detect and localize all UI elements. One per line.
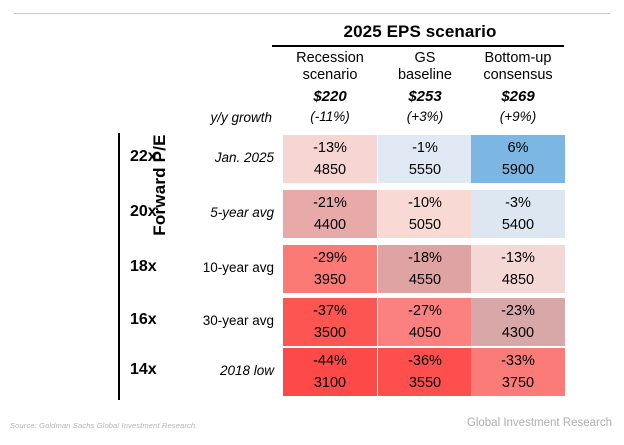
row-name-label-4: 2018 low — [176, 363, 274, 378]
cell-index-level: 3950 — [283, 269, 377, 291]
cell-growth-value: -29% — [283, 247, 377, 269]
row-pe-label-2: 18x — [130, 258, 170, 276]
column-header-line2: scenario — [303, 67, 358, 83]
heatmap-cell-r0-c1: -1%5550 — [378, 135, 472, 183]
cell-growth-value: -36% — [378, 350, 472, 372]
cell-growth-value: -3% — [471, 192, 565, 214]
cell-growth-value: -44% — [283, 350, 377, 372]
cell-growth-value: -13% — [471, 247, 565, 269]
cell-index-level: 5900 — [471, 159, 565, 181]
cell-index-level: 5550 — [378, 159, 472, 181]
row-pe-label-1: 20x — [130, 203, 170, 221]
column-growth-value: (+9%) — [471, 108, 565, 125]
column-header-2: Bottom-upconsensus$269(+9%) — [471, 50, 565, 125]
heatmap-cell-r3-c0: -37%3500 — [283, 298, 377, 346]
row-name-label-1: 5-year avg — [176, 205, 274, 220]
heatmap-cell-r0-c2: 6%5900 — [471, 135, 565, 183]
heatmap-cell-r1-c0: -21%4400 — [283, 190, 377, 238]
heatmap-cell-r1-c2: -3%5400 — [471, 190, 565, 238]
column-header-line2: baseline — [398, 67, 452, 83]
cell-index-level: 4300 — [471, 322, 565, 344]
column-header-0: Recessionscenario$220(-11%) — [283, 50, 377, 125]
cell-index-level: 5400 — [471, 214, 565, 236]
column-growth-value: (+3%) — [378, 108, 472, 125]
row-name-label-3: 30-year avg — [176, 313, 274, 328]
row-pe-label-4: 14x — [130, 361, 170, 379]
cell-index-level: 3550 — [378, 372, 472, 394]
column-header-1: GSbaseline$253(+3%) — [378, 50, 472, 125]
cell-index-level: 3100 — [283, 372, 377, 394]
forward-pe-axis-line — [118, 133, 120, 400]
cell-growth-value: -18% — [378, 247, 472, 269]
cell-growth-value: -10% — [378, 192, 472, 214]
column-header-line1: Recession — [296, 50, 364, 66]
cell-growth-value: -37% — [283, 300, 377, 322]
heatmap-cell-r4-c0: -44%3100 — [283, 348, 377, 396]
cell-index-level: 5050 — [378, 214, 472, 236]
row-pe-label-3: 16x — [130, 311, 170, 329]
heatmap-cell-r4-c1: -36%3550 — [378, 348, 472, 396]
top-divider — [14, 13, 610, 14]
heatmap-cell-r4-c2: -33%3750 — [471, 348, 565, 396]
row-pe-label-0: 22x — [130, 148, 170, 166]
cell-growth-value: -33% — [471, 350, 565, 372]
cell-growth-value: 6% — [471, 137, 565, 159]
cell-growth-value: -23% — [471, 300, 565, 322]
cell-index-level: 4850 — [471, 269, 565, 291]
row-name-label-2: 10-year avg — [176, 260, 274, 275]
cell-index-level: 4850 — [283, 159, 377, 181]
cell-index-level: 3500 — [283, 322, 377, 344]
heatmap-cell-r3-c1: -27%4050 — [378, 298, 472, 346]
footer-source: Source: Goldman Sachs Global Investment … — [10, 421, 197, 430]
column-growth-value: (-11%) — [283, 108, 377, 125]
column-header-line1: Bottom-up — [485, 50, 552, 66]
cell-index-level: 4550 — [378, 269, 472, 291]
cell-index-level: 4050 — [378, 322, 472, 344]
heatmap-cell-r1-c1: -10%5050 — [378, 190, 472, 238]
column-eps-value: $253 — [378, 88, 472, 105]
row-name-label-0: Jan. 2025 — [176, 150, 274, 165]
heatmap-cell-r2-c0: -29%3950 — [283, 245, 377, 293]
heatmap-cell-r2-c2: -13%4850 — [471, 245, 565, 293]
cell-growth-value: -1% — [378, 137, 472, 159]
eps-scenario-exhibit: 2025 EPS scenario Recessionscenario$220(… — [0, 0, 624, 445]
heatmap-cell-r0-c0: -13%4850 — [283, 135, 377, 183]
column-eps-value: $220 — [283, 88, 377, 105]
cell-index-level: 4400 — [283, 214, 377, 236]
group-title-underline — [272, 45, 564, 47]
cell-growth-value: -13% — [283, 137, 377, 159]
forward-pe-axis-title: Forward P/E — [150, 95, 176, 275]
heatmap-cell-r2-c1: -18%4550 — [378, 245, 472, 293]
cell-growth-value: -27% — [378, 300, 472, 322]
footer-brand: Global Investment Research — [467, 417, 612, 429]
column-eps-value: $269 — [471, 88, 565, 105]
column-header-line2: consensus — [483, 67, 552, 83]
column-header-line1: GS — [415, 50, 436, 66]
cell-index-level: 3750 — [471, 372, 565, 394]
group-title: 2025 EPS scenario — [278, 22, 562, 42]
heatmap-cell-r3-c2: -23%4300 — [471, 298, 565, 346]
cell-growth-value: -21% — [283, 192, 377, 214]
